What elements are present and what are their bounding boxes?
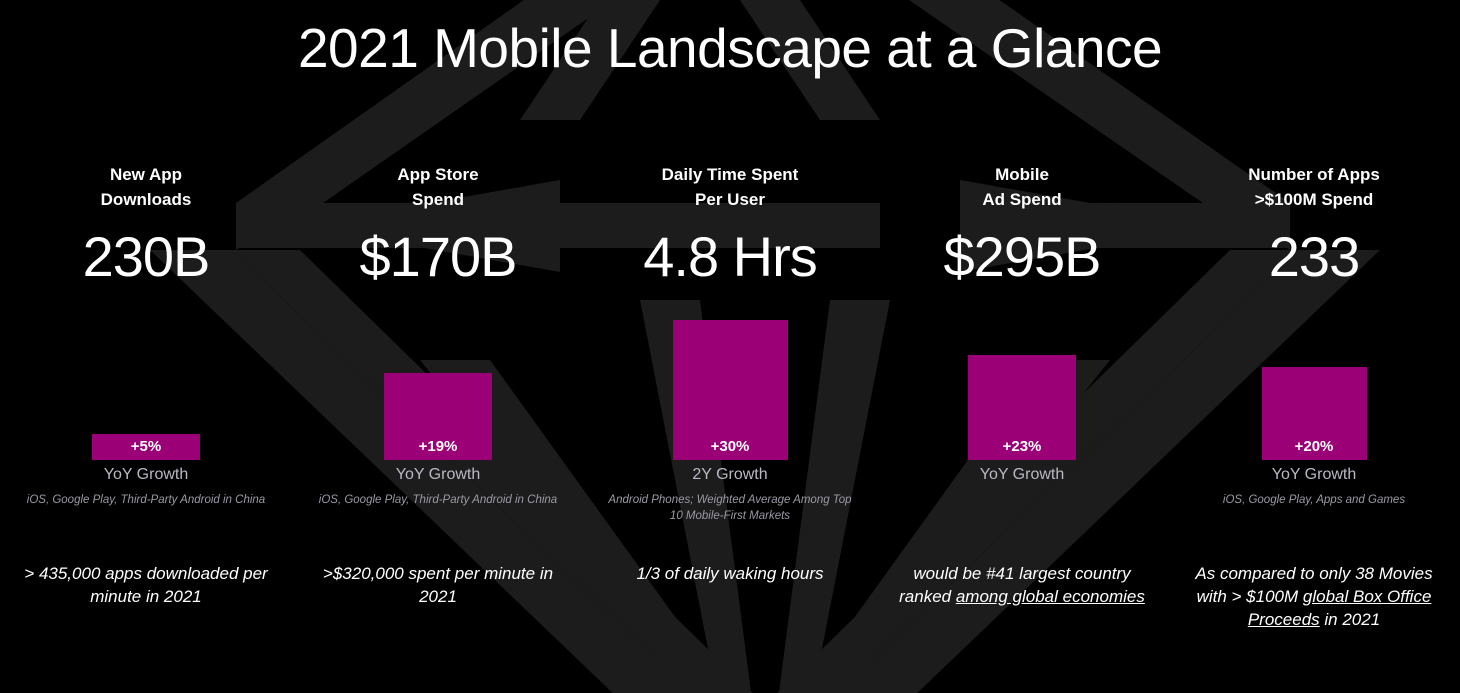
metric-value: 230B [0, 224, 292, 289]
growth-bar-label: +5% [131, 439, 161, 460]
bar-zone: +20% [1168, 302, 1460, 460]
growth-basis-label: YoY Growth [876, 466, 1168, 484]
bar-wrap: +5% [0, 434, 292, 460]
growth-basis-label: YoY Growth [292, 466, 584, 484]
bar-wrap: +23% [876, 355, 1168, 460]
footnote-link[interactable]: among global economies [956, 587, 1145, 606]
page-title: 2021 Mobile Landscape at a Glance [0, 16, 1460, 80]
growth-basis-label: YoY Growth [0, 466, 292, 484]
growth-bar-label: +23% [1003, 439, 1042, 460]
metric-column-daily-time-spent: Daily Time Spent Per User 4.8 Hrs +30% 2… [584, 162, 876, 693]
bar-wrap: +30% [584, 320, 876, 460]
metric-value: $170B [292, 224, 584, 289]
footnote-text: >$320,000 spent per minute in 2021 [323, 564, 553, 606]
metric-header: Daily Time Spent Per User [584, 162, 876, 212]
footnote: > 435,000 apps downloaded per minute in … [0, 562, 292, 608]
bar-wrap: +19% [292, 373, 584, 460]
bar-zone: +30% [584, 302, 876, 460]
growth-bar-label: +30% [711, 439, 750, 460]
bar-zone: +5% [0, 302, 292, 460]
source-note: iOS, Google Play, Third-Party Android in… [0, 492, 292, 508]
metric-value: 4.8 Hrs [584, 224, 876, 289]
growth-bar: +5% [92, 434, 200, 460]
footnote: 1/3 of daily waking hours [584, 562, 876, 585]
metric-header: Number of Apps >$100M Spend [1168, 162, 1460, 212]
source-note: iOS, Google Play, Third-Party Android in… [292, 492, 584, 508]
metric-column-mobile-ad-spend: Mobile Ad Spend $295B +23% YoY Growth wo… [876, 162, 1168, 693]
bar-zone: +23% [876, 302, 1168, 460]
metric-value: $295B [876, 224, 1168, 289]
bar-wrap: +20% [1168, 367, 1460, 460]
growth-bar: +23% [968, 355, 1076, 460]
growth-bar-label: +19% [419, 439, 458, 460]
growth-basis-label: YoY Growth [1168, 466, 1460, 484]
growth-bar: +19% [384, 373, 492, 460]
source-note: iOS, Google Play, Apps and Games [1168, 492, 1460, 508]
metric-header: New App Downloads [0, 162, 292, 212]
source-note: Android Phones; Weighted Average Among T… [584, 492, 876, 524]
footnote-text: > 435,000 apps downloaded per minute in … [24, 564, 267, 606]
bar-zone: +19% [292, 302, 584, 460]
metrics-row: New App Downloads 230B +5% YoY Growth iO… [0, 162, 1460, 693]
growth-basis-label: 2Y Growth [584, 466, 876, 484]
metric-value: 233 [1168, 224, 1460, 289]
footnote: would be #41 largest country ranked amon… [876, 562, 1168, 608]
footnote-text: 1/3 of daily waking hours [636, 564, 823, 583]
metric-header: Mobile Ad Spend [876, 162, 1168, 212]
growth-bar-label: +20% [1295, 439, 1334, 460]
infographic-slide: 2021 Mobile Landscape at a Glance New Ap… [0, 0, 1460, 693]
growth-bar: +20% [1262, 367, 1367, 460]
metric-header: App Store Spend [292, 162, 584, 212]
footnote: >$320,000 spent per minute in 2021 [292, 562, 584, 608]
metric-column-app-store-spend: App Store Spend $170B +19% YoY Growth iO… [292, 162, 584, 693]
metric-column-number-of-apps: Number of Apps >$100M Spend 233 +20% YoY… [1168, 162, 1460, 693]
footnote: As compared to only 38 Movies with > $10… [1168, 562, 1460, 631]
metric-column-new-app-downloads: New App Downloads 230B +5% YoY Growth iO… [0, 162, 292, 693]
growth-bar: +30% [673, 320, 788, 460]
footnote-text-post: in 2021 [1320, 610, 1381, 629]
